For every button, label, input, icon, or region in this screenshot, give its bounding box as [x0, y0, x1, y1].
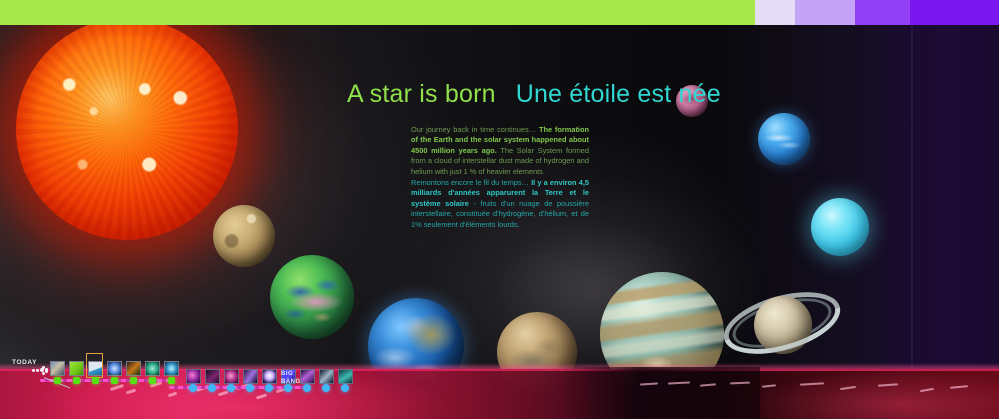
topbar-segment-deep-violet — [910, 0, 999, 25]
page-title: A star is bornUne étoile est née — [347, 80, 721, 109]
timeline-thumbnail[interactable] — [262, 369, 277, 384]
bigbang-label-line2: BANG — [281, 379, 301, 385]
topbar-segment-green — [0, 0, 755, 25]
sun — [16, 18, 238, 240]
timeline-navigator[interactable]: TODAY — [0, 349, 999, 393]
paragraph-english-lead: Our journey back in time continues… — [411, 125, 539, 134]
timeline-node-ancient[interactable] — [246, 384, 254, 392]
paragraph-french-lead: Remontons encore le fil du temps… — [411, 178, 531, 187]
paragraph-french: Remontons encore le fil du temps… Il y a… — [411, 178, 589, 230]
top-color-bar — [0, 0, 999, 25]
timeline-thumbnail[interactable] — [50, 361, 65, 376]
bigbang-label-line1: BIG — [281, 371, 293, 377]
timeline-thumbnail[interactable] — [205, 369, 220, 384]
timeline-thumbnail[interactable] — [145, 361, 160, 376]
today-arrow-icon[interactable] — [32, 366, 48, 375]
title-french: Une étoile est née — [516, 80, 721, 108]
timeline-node-ancient[interactable] — [303, 384, 311, 392]
uranus — [811, 198, 869, 256]
timeline-node-ancient[interactable] — [341, 384, 349, 392]
venus-texture — [270, 255, 354, 339]
timeline-node-recent[interactable] — [130, 377, 137, 384]
neptune — [758, 113, 810, 165]
venus — [270, 255, 354, 339]
timeline-node-recent[interactable] — [168, 377, 175, 384]
timeline-node-recent[interactable] — [92, 377, 99, 384]
neptune-texture — [758, 113, 810, 165]
timeline-node-recent[interactable] — [111, 377, 118, 384]
mercury-texture — [213, 205, 275, 267]
topbar-segment-pale-lavender — [755, 0, 795, 25]
timeline-node-ancient[interactable] — [227, 384, 235, 392]
timeline-node-recent[interactable] — [54, 377, 61, 384]
bigbang-label: BIG BANG — [281, 371, 301, 386]
timeline-node-ancient[interactable] — [322, 384, 330, 392]
timeline-node-recent[interactable] — [73, 377, 80, 384]
timeline-thumbnail[interactable] — [338, 369, 353, 384]
timeline-thumbnail[interactable] — [319, 369, 334, 384]
timeline-thumbnail[interactable] — [300, 369, 315, 384]
timeline-node-ancient[interactable] — [189, 384, 197, 392]
today-label: TODAY — [12, 359, 37, 366]
topbar-segment-light-violet — [795, 0, 855, 25]
timeline-thumbnail[interactable] — [107, 361, 122, 376]
timeline-thumbnail[interactable] — [164, 361, 179, 376]
presentation-canvas: A star is bornUne étoile est née Our jou… — [0, 0, 999, 419]
timeline-thumbnail[interactable] — [126, 361, 141, 376]
timeline-thumbnail[interactable] — [243, 369, 258, 384]
title-english: A star is born — [347, 80, 496, 108]
mercury — [213, 205, 275, 267]
timeline-thumbnail[interactable] — [224, 369, 239, 384]
timeline-selection-highlight[interactable] — [86, 353, 103, 378]
sun-limb-shadow — [16, 18, 238, 240]
timeline-node-ancient[interactable] — [265, 384, 273, 392]
timeline-node-recent[interactable] — [149, 377, 156, 384]
timeline-node-ancient[interactable] — [208, 384, 216, 392]
topbar-segment-violet — [855, 0, 910, 25]
timeline-thumbnail[interactable] — [69, 361, 84, 376]
timeline-thumbnail[interactable] — [186, 369, 201, 384]
paragraph-english: Our journey back in time continues… The … — [411, 125, 589, 177]
